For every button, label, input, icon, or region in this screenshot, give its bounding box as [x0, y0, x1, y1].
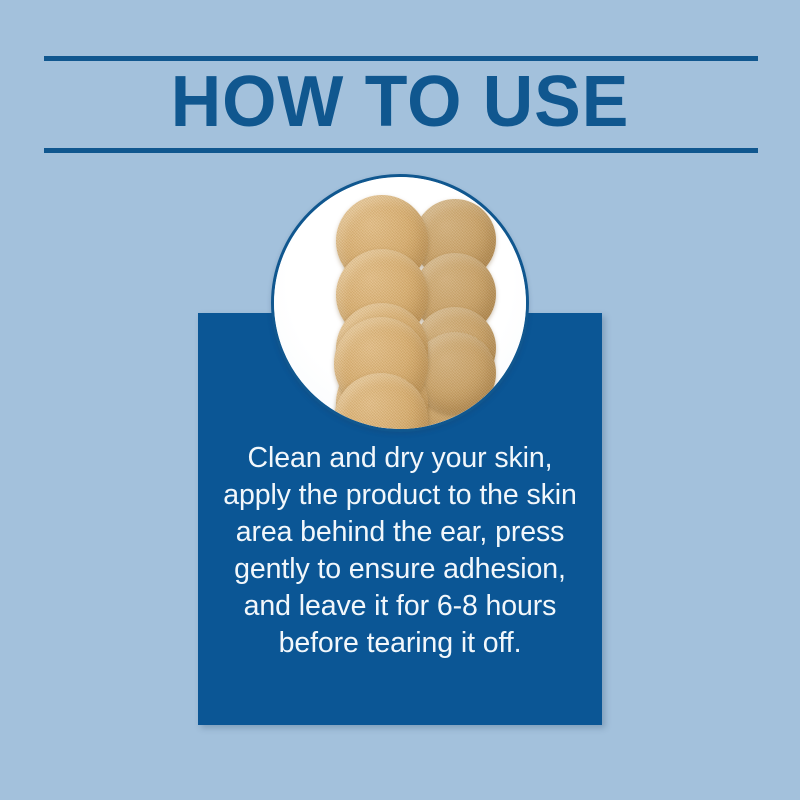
product-photo-circle	[271, 174, 529, 432]
infographic-canvas: HOW TO USE Clean and dry your skin, appl…	[0, 0, 800, 800]
instructions-text: Clean and dry your skin, apply the produ…	[198, 440, 602, 662]
title-rule-top	[44, 56, 758, 61]
header: HOW TO USE	[0, 0, 800, 160]
product-patches-photo	[274, 177, 526, 429]
title-rule-bottom	[44, 148, 758, 153]
page-title: HOW TO USE	[12, 62, 788, 142]
